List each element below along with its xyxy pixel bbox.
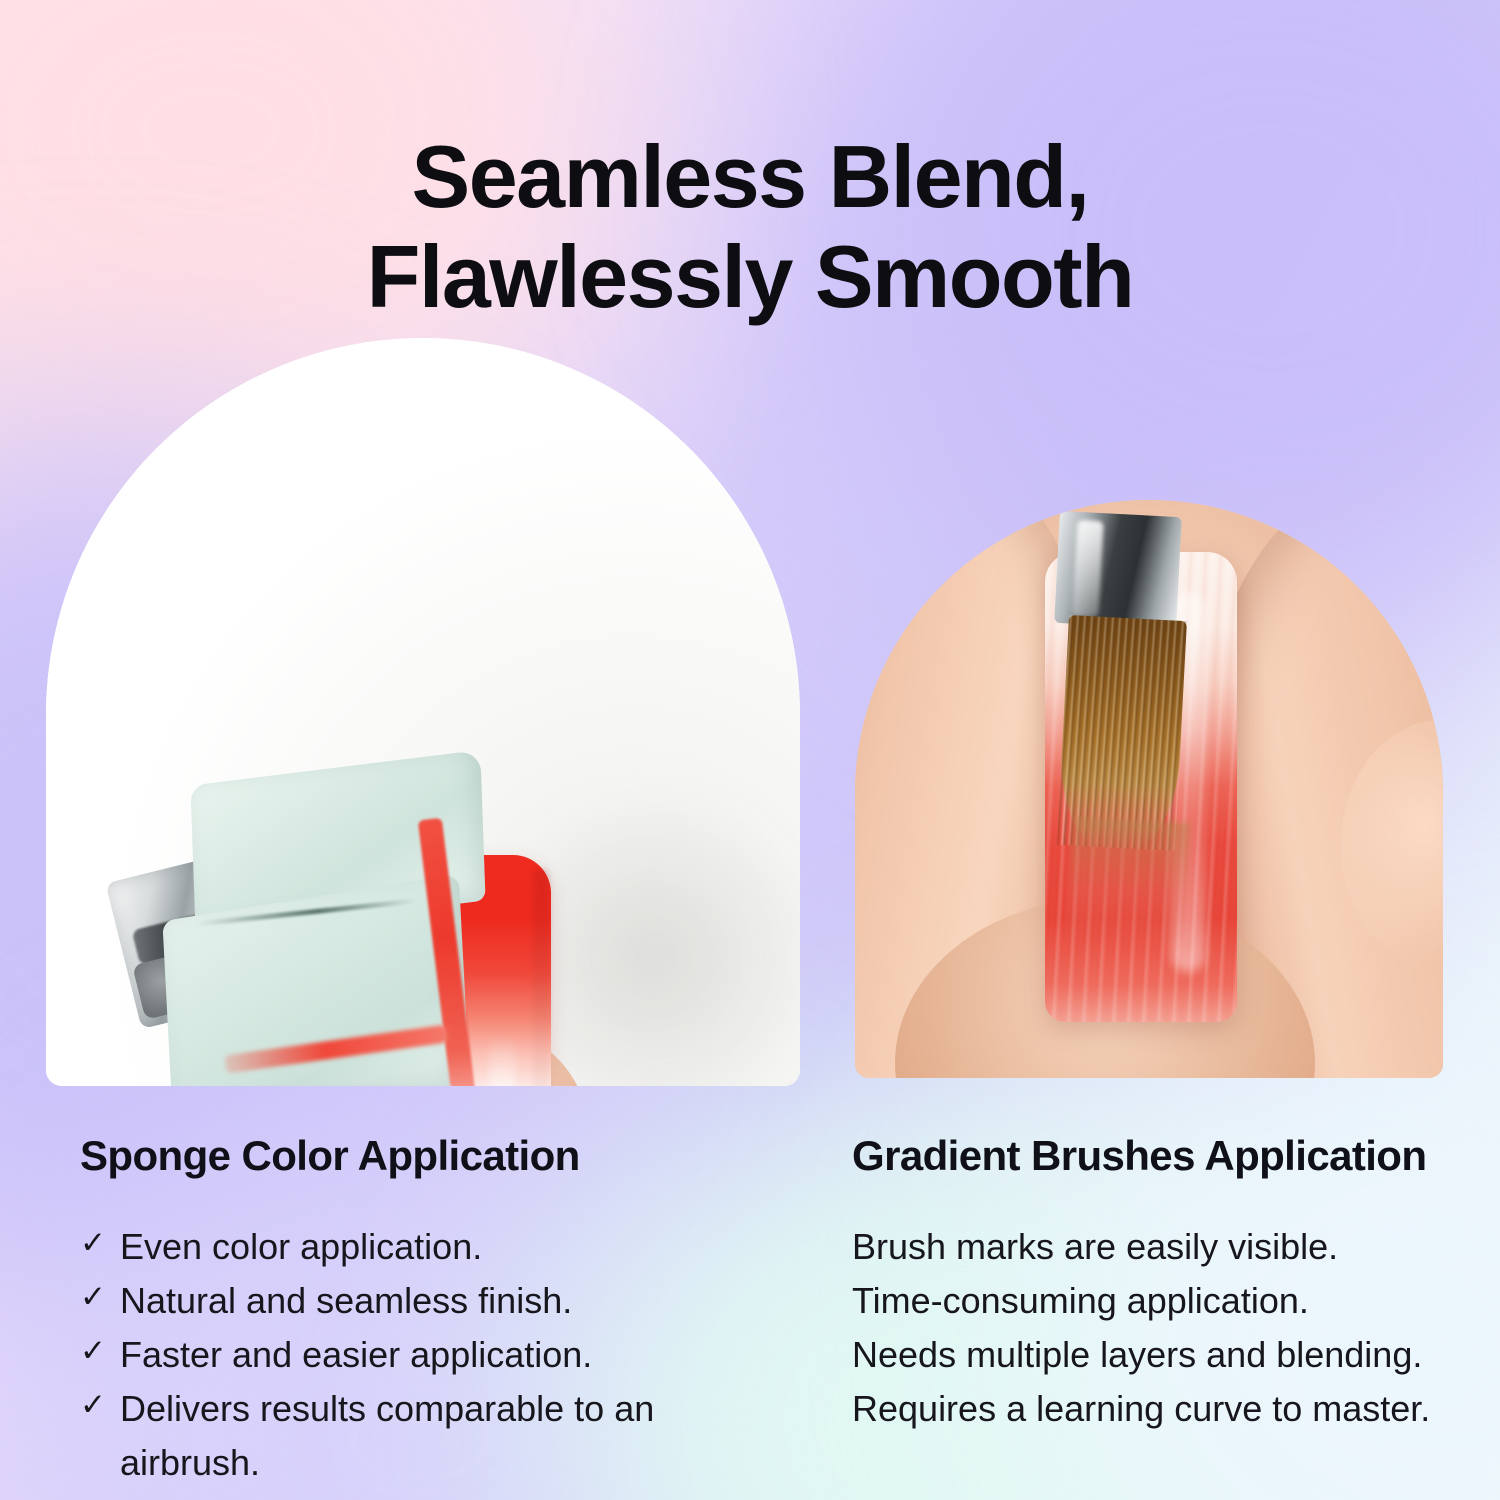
list-item-label: Delivers results comparable to an airbru… xyxy=(120,1382,680,1490)
list-item-label: Even color application. xyxy=(120,1220,482,1274)
photo-brush-application xyxy=(855,500,1443,1078)
check-icon: ✓ xyxy=(80,1274,106,1321)
check-icon: ✓ xyxy=(80,1328,106,1375)
list-item-label: Natural and seamless finish. xyxy=(120,1274,572,1328)
brush-bristles xyxy=(1057,615,1187,851)
benefits-list-sponge: ✓ Even color application. ✓ Natural and … xyxy=(80,1220,720,1490)
column-heading-sponge: Sponge Color Application xyxy=(80,1132,580,1180)
ferrule-highlight xyxy=(1073,520,1104,617)
column-heading-brush: Gradient Brushes Application xyxy=(852,1132,1426,1180)
drawbacks-list-brush: Brush marks are easily visible. Time-con… xyxy=(852,1220,1472,1436)
list-item: Time-consuming application. xyxy=(852,1274,1472,1328)
list-item: ✓ Delivers results comparable to an airb… xyxy=(80,1382,720,1490)
finger-right-highlight xyxy=(1341,720,1443,970)
list-item: ✓ Even color application. xyxy=(80,1220,720,1274)
photo-sponge-application xyxy=(46,338,800,1086)
photo-panel-sponge xyxy=(46,338,800,1086)
bristle-strands xyxy=(1057,615,1187,851)
nail-edge-shading xyxy=(533,869,549,1086)
photo-panel-brush xyxy=(855,500,1443,1078)
brush-wet-pigment xyxy=(1066,817,1191,953)
nail-soft-highlight xyxy=(489,1035,515,1086)
list-item: Brush marks are easily visible. xyxy=(852,1220,1472,1274)
list-item-label: Faster and easier application. xyxy=(120,1328,592,1382)
list-item: ✓ Faster and easier application. xyxy=(80,1328,720,1382)
check-icon: ✓ xyxy=(80,1382,106,1429)
list-item: ✓ Natural and seamless finish. xyxy=(80,1274,720,1328)
brush-ferrule xyxy=(1054,511,1182,629)
headline-line-2: Flawlessly Smooth xyxy=(0,227,1500,327)
page-title: Seamless Blend, Flawlessly Smooth xyxy=(0,127,1500,328)
infographic-root: Seamless Blend, Flawlessly Smooth xyxy=(0,0,1500,1500)
list-item: Requires a learning curve to master. xyxy=(852,1382,1472,1436)
check-icon: ✓ xyxy=(80,1220,106,1267)
list-item: Needs multiple layers and blending. xyxy=(852,1328,1472,1382)
headline-line-1: Seamless Blend, xyxy=(0,127,1500,227)
